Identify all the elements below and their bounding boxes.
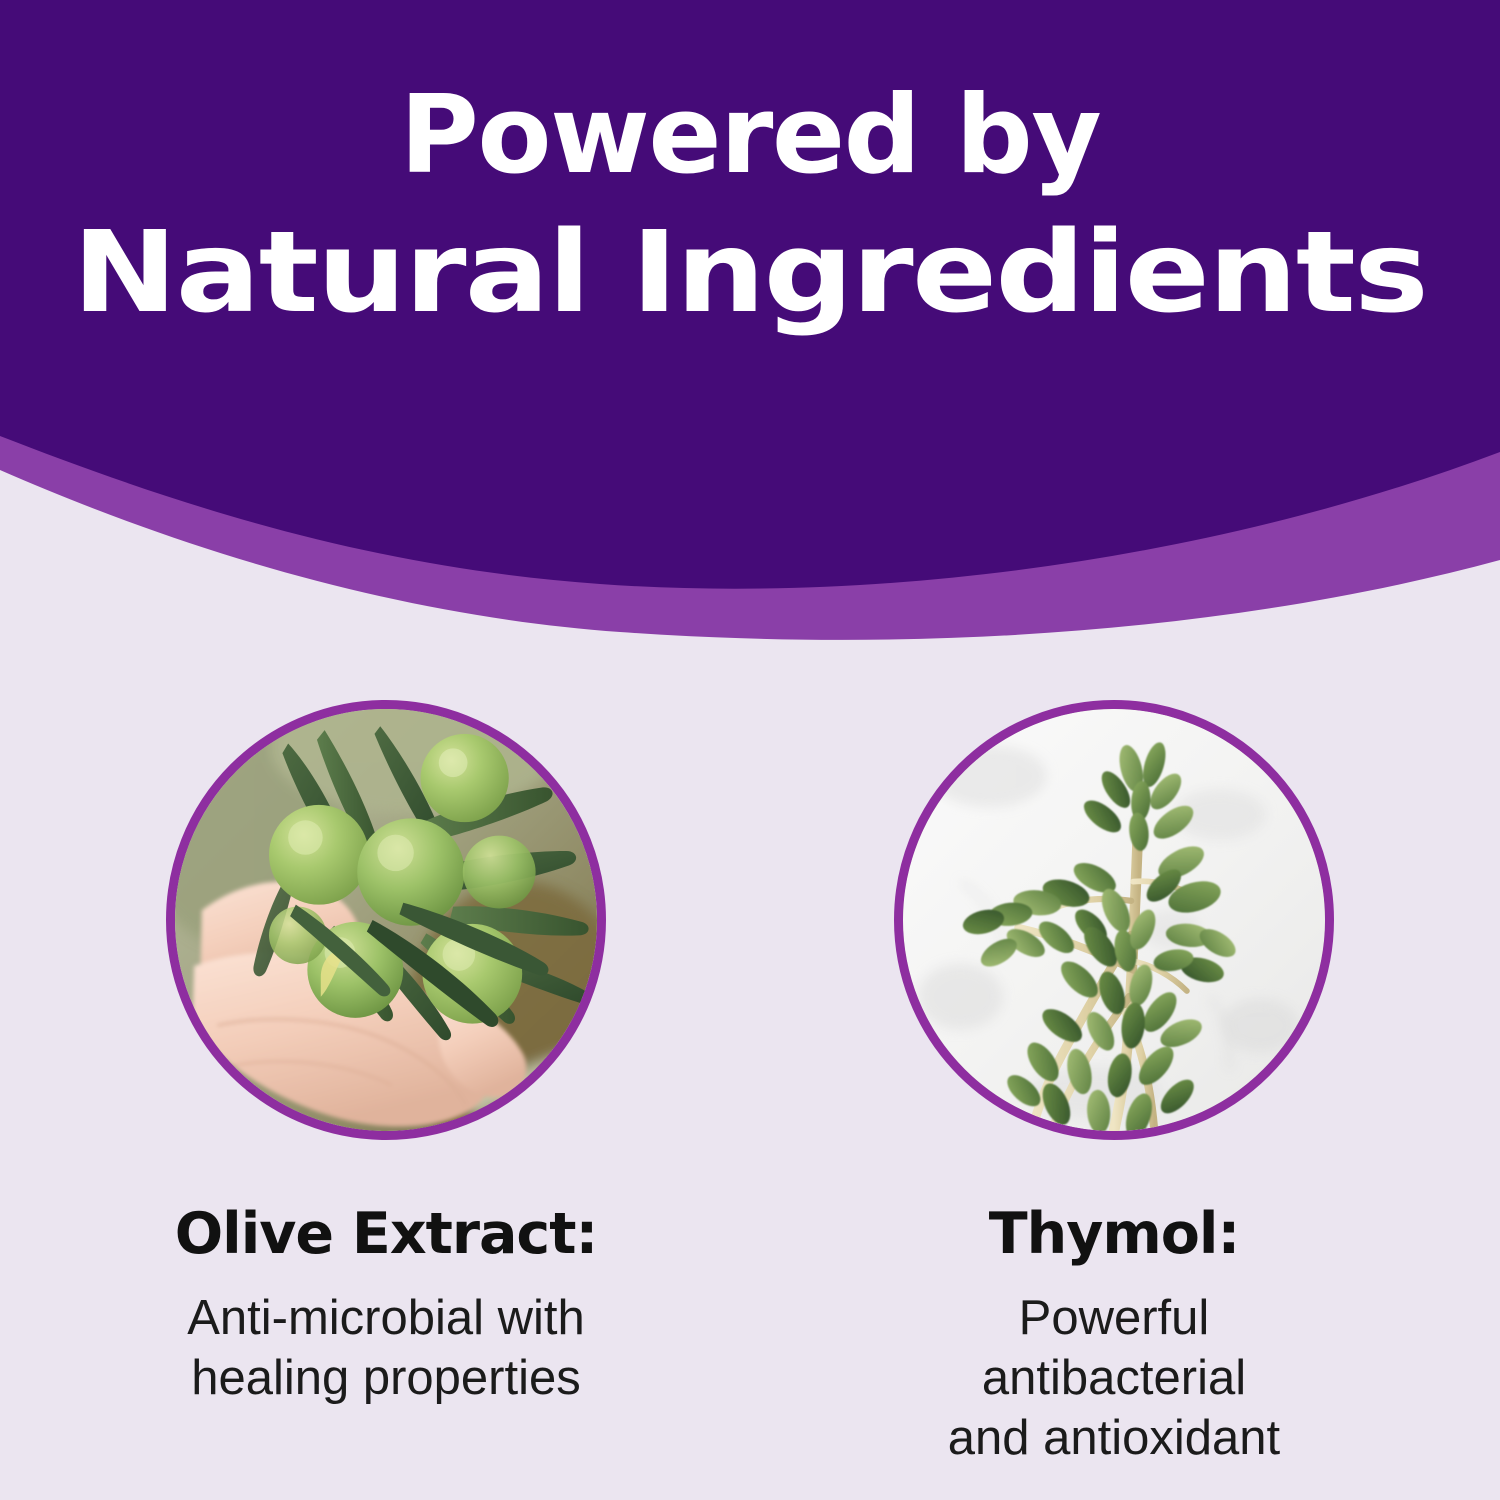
ingredient-description-olive-extract: Anti-microbial with healing properties (187, 1289, 585, 1409)
ingredient-description-thymol: Powerful antibacterial and antioxidant (889, 1289, 1339, 1468)
infographic-page: Powered by Natural Ingredients (0, 0, 1500, 1500)
ingredient-name-olive-extract: Olive Extract: (175, 1206, 598, 1263)
ingredient-card-thymol: Thymol: Powerful antibacterial and antio… (889, 700, 1339, 1468)
ingredient-desc-line-1: Powerful antibacterial (982, 1291, 1246, 1405)
ingredient-card-olive-extract: Olive Extract: Anti-microbial with heali… (161, 700, 611, 1468)
wave-dark-shape (0, 0, 1500, 589)
ingredient-desc-line-2: and antioxidant (889, 1409, 1339, 1469)
ingredient-desc-line-2: healing properties (187, 1349, 585, 1409)
ingredient-desc-line-1: Anti-microbial with (187, 1291, 585, 1345)
header-banner: Powered by Natural Ingredients (0, 0, 1500, 660)
olive-photo-ring (166, 700, 606, 1140)
header-wave-graphic (0, 0, 1500, 660)
ingredient-name-thymol: Thymol: (989, 1206, 1240, 1263)
ingredient-cards: Olive Extract: Anti-microbial with heali… (0, 700, 1500, 1468)
thymol-photo (903, 709, 1325, 1131)
olive-photo (175, 709, 597, 1131)
thymol-photo-ring (894, 700, 1334, 1140)
